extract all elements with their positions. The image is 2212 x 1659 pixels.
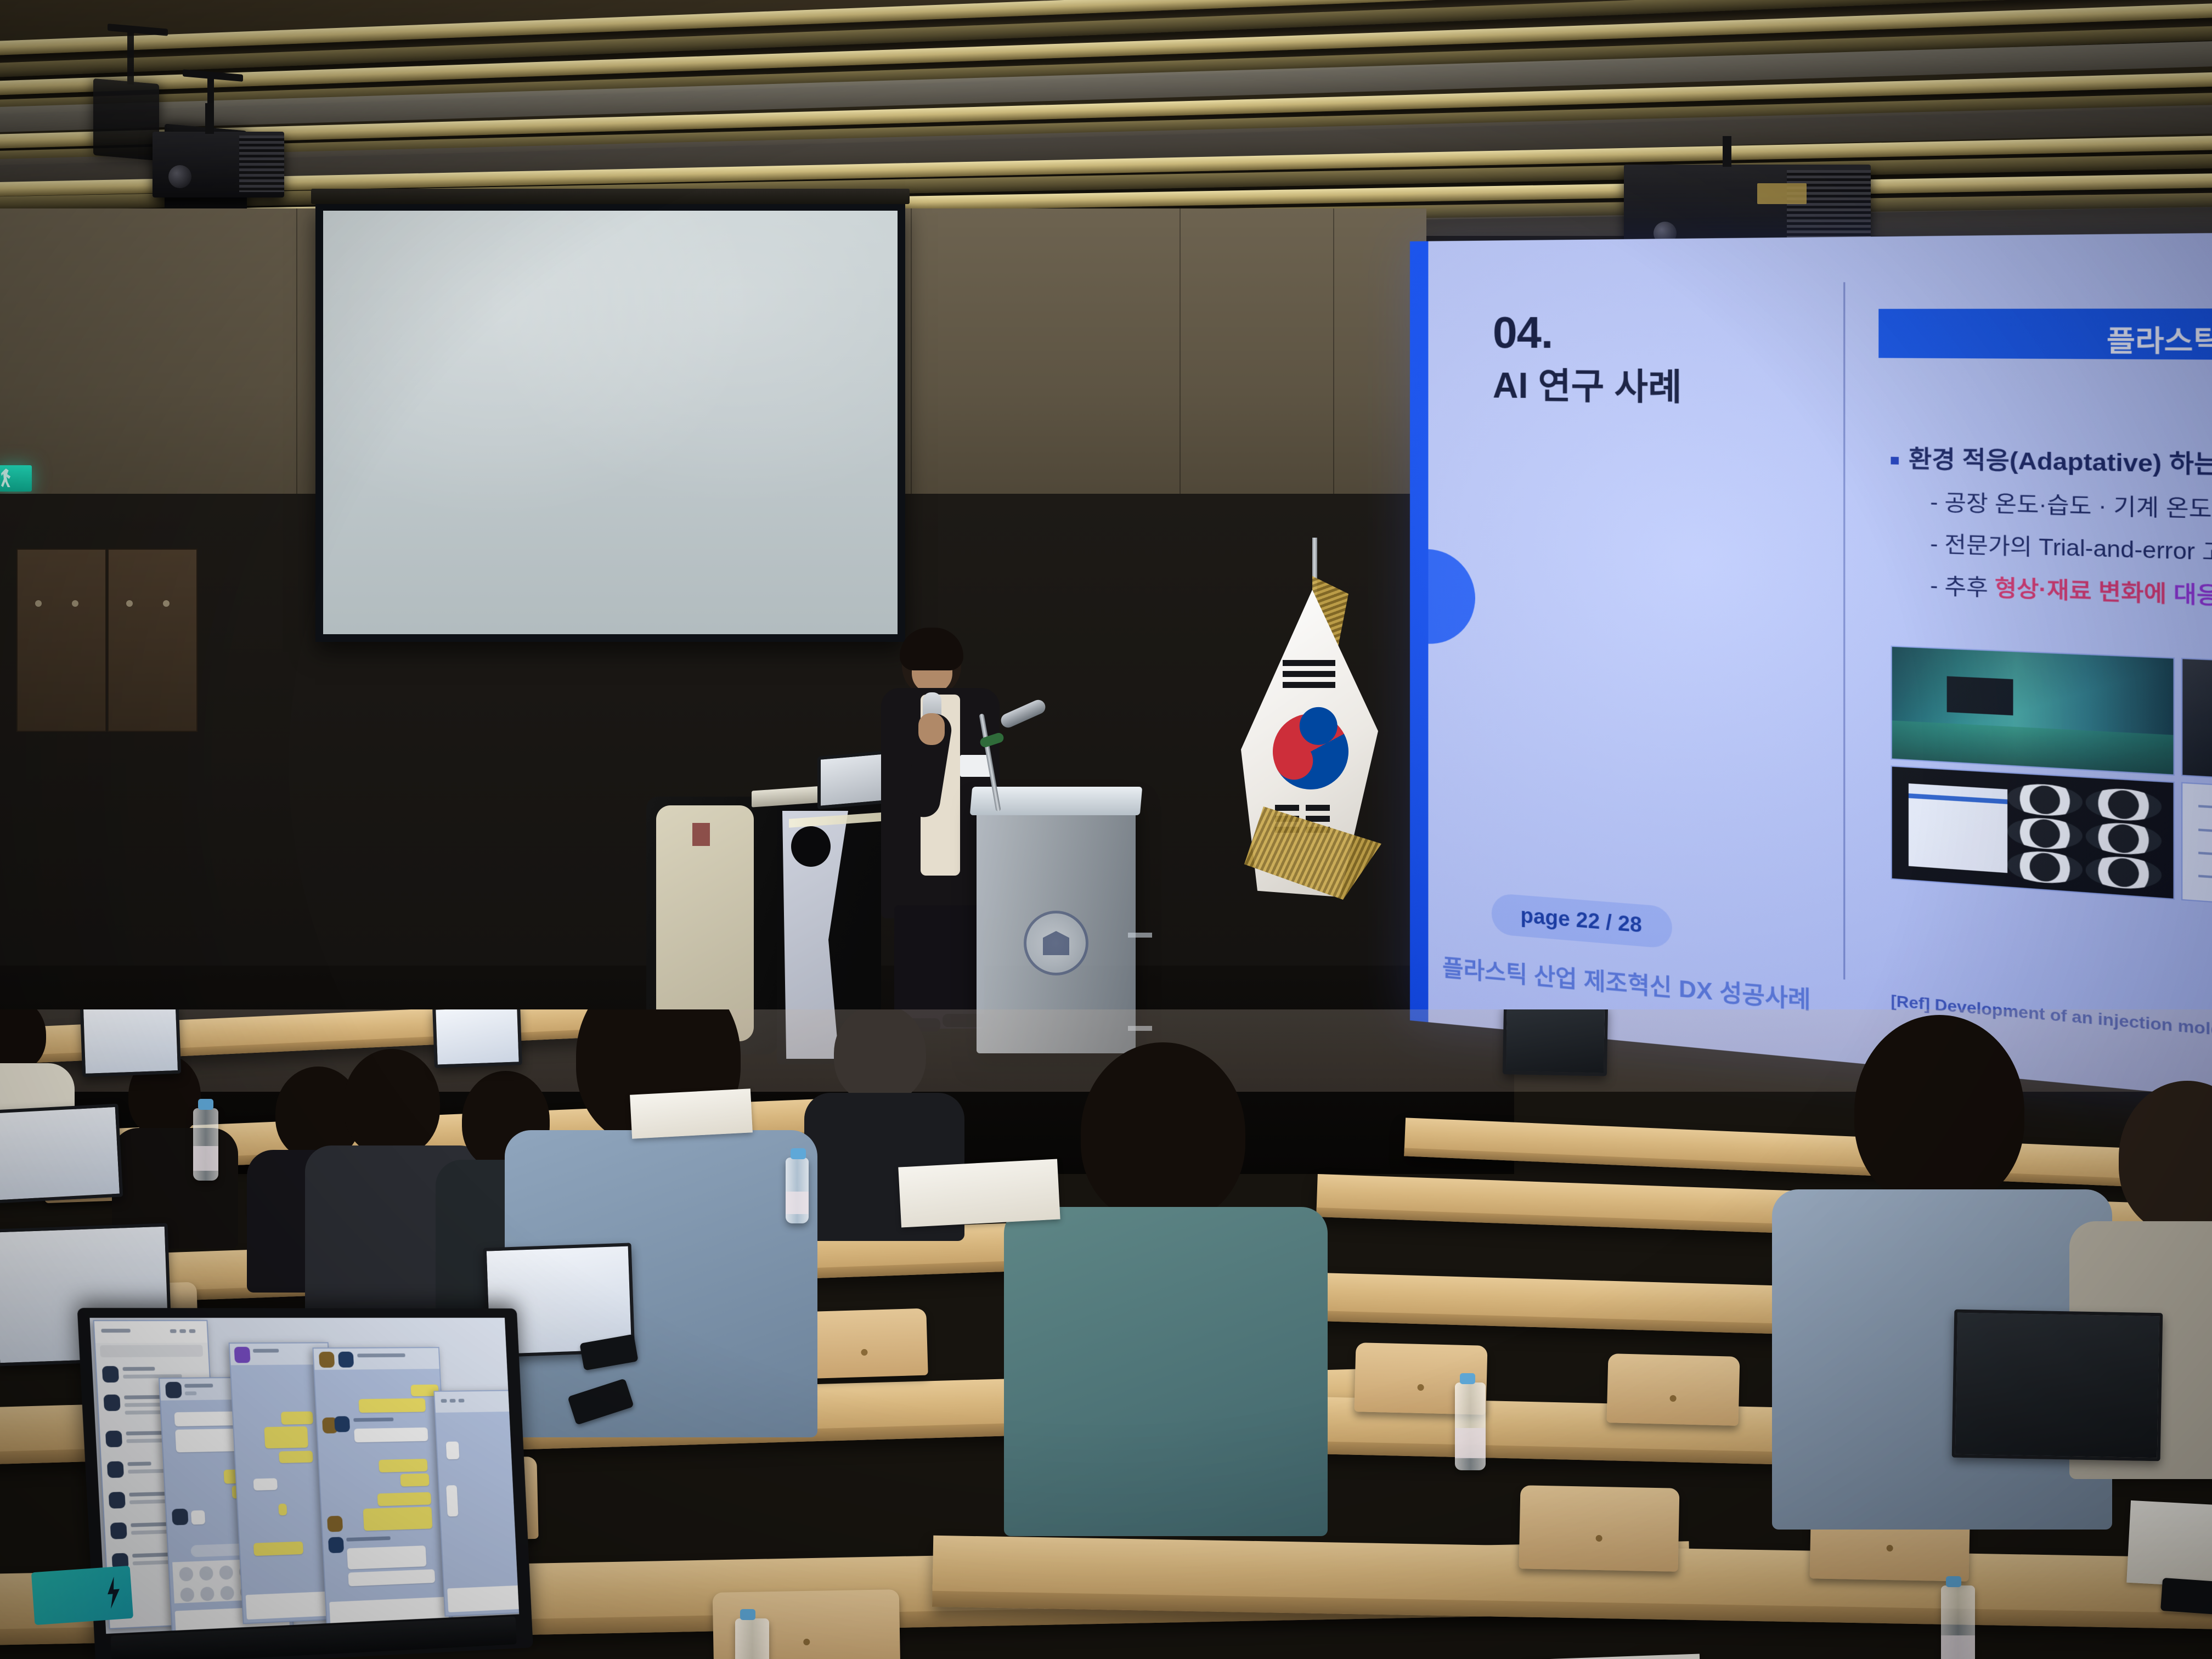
photo-control-panel <box>1908 783 2007 873</box>
bullet-sub-3-highlight: 형상·재료 변화에 <box>1995 576 2174 607</box>
presenter-hair <box>900 628 963 670</box>
projector-mount <box>205 103 214 134</box>
water-bottle-2[interactable] <box>786 1158 809 1223</box>
slide-header-band: 플라스틱 사출성 <box>1878 308 2212 360</box>
chat-avatar <box>234 1347 251 1363</box>
lightning-bolt-icon <box>103 1576 124 1609</box>
water-bottle-4[interactable] <box>1941 1585 1975 1659</box>
projector-lens <box>168 165 191 188</box>
chat-avatar <box>165 1382 182 1398</box>
chat-bubble <box>446 1441 460 1459</box>
chat-avatar <box>319 1352 335 1368</box>
slide-header-text: 플라스틱 사출성 <box>2107 317 2212 360</box>
door-right[interactable] <box>108 549 198 732</box>
message-input[interactable] <box>447 1585 519 1612</box>
taeguk-symbol <box>1260 701 1362 803</box>
conference-badge <box>31 1566 133 1625</box>
photo-machine-closeup <box>2181 658 2212 785</box>
projector-warning-label <box>1757 183 1807 204</box>
projected-presentation-slide: 04. AI 연구 사례 플라스틱 사출성 환경 적응(Adaptative) … <box>1410 232 2212 1105</box>
chat-bubble <box>347 1545 426 1570</box>
chair-back[interactable] <box>1519 1485 1680 1572</box>
chat-avatar <box>328 1537 344 1553</box>
door-left[interactable] <box>16 549 106 732</box>
water-bottle-3[interactable] <box>1455 1383 1486 1470</box>
laptop-display <box>89 1318 519 1634</box>
chat-bubble-highlight <box>400 1474 429 1487</box>
kakaotalk-chat-window-4[interactable] <box>312 1347 453 1630</box>
audience-laptop-7[interactable] <box>1503 1009 1608 1076</box>
slide-footer-title: 플라스틱 산업 제조혁신 DX 성공사례 <box>1442 949 1811 1016</box>
chat-bubble-highlight <box>281 1412 313 1425</box>
audience-laptop-3[interactable] <box>80 1009 181 1077</box>
screen-roller-housing <box>311 189 910 204</box>
door-stud <box>35 600 42 607</box>
chat-bubble-highlight <box>358 1398 426 1413</box>
window-titlebar[interactable] <box>435 1391 518 1413</box>
projector-vents <box>239 136 284 192</box>
door-stud <box>163 600 170 607</box>
contact-avatar <box>109 1492 126 1509</box>
chat-bubble-highlight <box>278 1504 287 1516</box>
chat-bubble <box>354 1427 428 1442</box>
chat-bubble-highlight <box>363 1506 433 1531</box>
chat-bubble-highlight <box>264 1426 308 1448</box>
slide-surface: 04. AI 연구 사례 플라스틱 사출성 환경 적응(Adaptative) … <box>1410 232 2212 1105</box>
head <box>1081 1042 1245 1223</box>
bullet-main-text: 환경 적응(Adaptative) 하는 엉 <box>1909 445 2212 479</box>
bullet-sub-3: - 추후 형상·재료 변화에 대응하 <box>1930 567 2212 614</box>
contact-avatar <box>102 1366 119 1383</box>
photo-mold-cavities <box>1891 765 2175 900</box>
door-stud <box>72 600 78 607</box>
slide-bullet-list: 환경 적응(Adaptative) 하는 엉 - 공장 온도·습도 · 기계 온… <box>1891 439 2212 615</box>
handout-5[interactable] <box>2126 1500 2212 1588</box>
chair-back[interactable] <box>800 1308 928 1379</box>
photo-factory-overview <box>1891 646 2175 776</box>
chat-bubble-highlight <box>379 1459 428 1472</box>
chat-avatar <box>172 1509 189 1525</box>
chat-bubble-highlight <box>279 1451 313 1463</box>
contact-avatar <box>104 1395 121 1411</box>
lecture-hall-photo: 04. AI 연구 사례 플라스틱 사출성 환경 적응(Adaptative) … <box>0 0 2212 1659</box>
handout-4[interactable] <box>630 1088 753 1138</box>
audience-laptop-1[interactable] <box>0 1104 123 1204</box>
bullet-sub-3-highlight2: 대응하 <box>2174 582 2212 610</box>
chat-search-input[interactable] <box>100 1345 203 1357</box>
contact-avatar <box>107 1461 124 1478</box>
screen-surface <box>323 211 898 634</box>
bullet-sub-2: - 전문가의 Trial-and-error 고 <box>1930 526 2212 571</box>
audience-laptop-4[interactable] <box>432 1009 522 1068</box>
chat-bubble-highlight <box>377 1492 432 1506</box>
contact-avatar <box>105 1431 122 1447</box>
head <box>343 1049 440 1156</box>
lectern-cable-port <box>791 826 831 867</box>
slide-semicircle-accent <box>1428 549 1475 646</box>
bullet-sub-1: - 공장 온도·습도 · 기계 온도 · 습 <box>1930 484 2212 527</box>
chat-bubble <box>348 1569 435 1586</box>
door-stud <box>126 600 133 607</box>
handout-2[interactable] <box>898 1159 1060 1227</box>
head <box>834 1009 926 1103</box>
projection-screen-blank <box>315 203 905 642</box>
water-bottle-5[interactable] <box>735 1618 769 1659</box>
audience-laptop-6[interactable] <box>1952 1310 2163 1462</box>
trigram-geon <box>1283 660 1335 693</box>
projector-mount <box>1723 136 1731 167</box>
foreground-laptop[interactable] <box>77 1308 533 1659</box>
contact-avatar <box>110 1522 127 1539</box>
ceiling-projector-left <box>153 132 284 198</box>
chair-back[interactable] <box>1606 1353 1740 1426</box>
slide-section-title: AI 연구 사례 <box>1493 357 1682 410</box>
smartphone-3[interactable] <box>2160 1578 2212 1615</box>
slide-section-number: 04. <box>1493 307 1553 359</box>
slide-vertical-divider <box>1843 282 1845 979</box>
chat-avatar <box>334 1416 350 1432</box>
university-crest-icon <box>1024 911 1088 975</box>
chat-bubble-highlight <box>253 1542 303 1556</box>
chat-bubble <box>446 1485 458 1516</box>
chat-bubble <box>191 1510 205 1525</box>
running-man-glyph <box>1 469 13 487</box>
bullet-square-icon <box>1891 456 1899 464</box>
handout-3[interactable] <box>1524 1654 1702 1659</box>
bullet-main: 환경 적응(Adaptative) 하는 엉 <box>1891 439 2212 483</box>
chat-bubble <box>253 1478 278 1491</box>
head <box>1854 1015 2024 1207</box>
photo-data-chart <box>2181 782 2212 912</box>
ceiling-speaker-right <box>93 78 159 161</box>
cabinet-sticker <box>692 823 710 846</box>
photo-ring-array <box>2008 782 2162 891</box>
slide-page-indicator: page 22 / 28 <box>1492 893 1672 949</box>
slide-left-accent-bar <box>1410 241 1428 1023</box>
message-input[interactable] <box>246 1591 338 1620</box>
podium-shelf <box>1128 933 1152 938</box>
presenter-hand <box>918 713 945 745</box>
chat-avatar <box>338 1352 354 1368</box>
water-bottle-1[interactable] <box>193 1108 218 1181</box>
kakaotalk-chat-window-5[interactable] <box>433 1390 519 1617</box>
bullet-sub-3-plain: - 추후 <box>1930 574 1995 601</box>
torso <box>1004 1207 1328 1536</box>
chat-avatar <box>327 1516 343 1532</box>
slide-photo-grid <box>1891 646 2212 912</box>
exit-sign-icon <box>0 465 32 492</box>
